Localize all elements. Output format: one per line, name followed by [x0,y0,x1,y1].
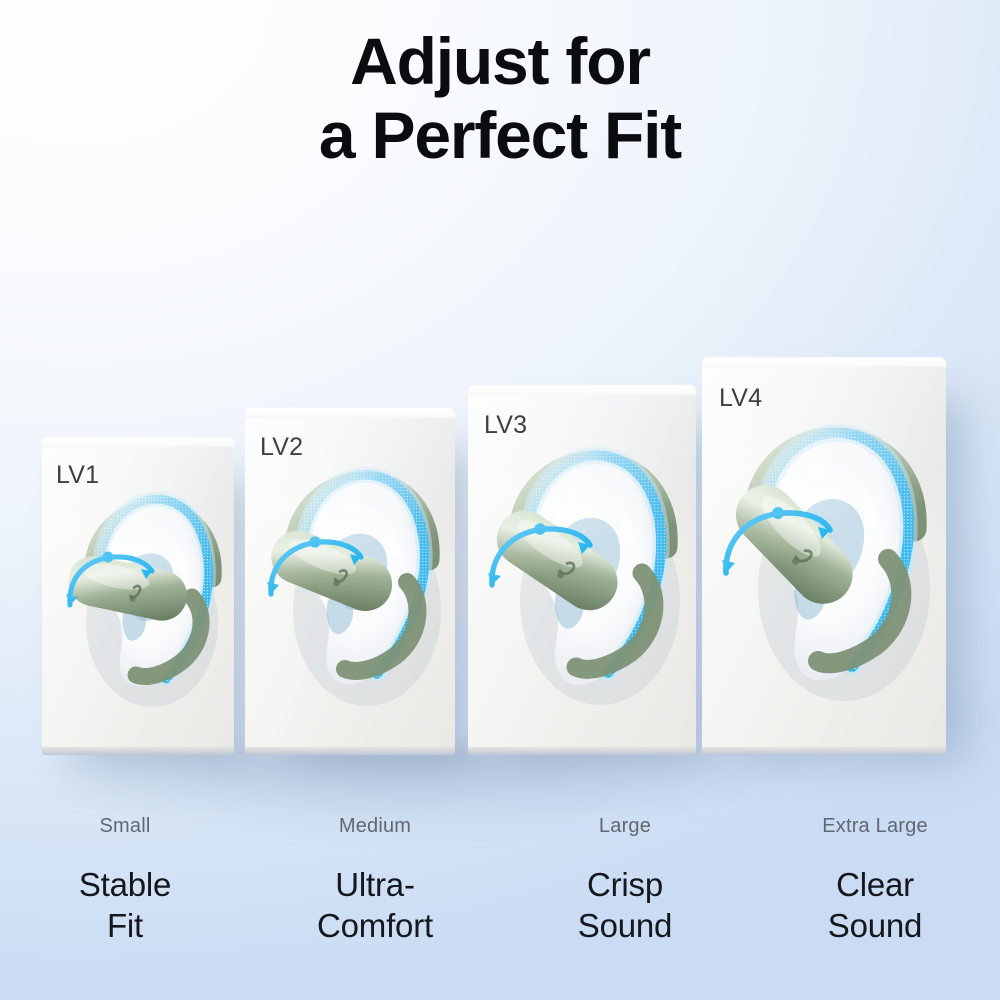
panel-face [468,395,696,748]
panel-base-edge [245,747,455,755]
panel-face [702,367,946,748]
size-label-large: Large [500,815,750,838]
ear-illustration-lv1 [42,447,234,748]
benefit-label-small: Stable Fit [0,864,250,946]
size-label-extra-large: Extra Large [750,815,1000,838]
benefit-label-extra-large: Clear Sound [750,864,1000,946]
panel-label-lv1: LV1 [56,461,99,490]
size-label-small: Small [0,815,250,838]
caption-extra-large: Extra Large Clear Sound [750,815,1000,946]
ear-illustration-lv3 [468,395,696,748]
panel-label-lv2: LV2 [260,433,303,462]
panel-lv1: LV1 [42,447,234,748]
caption-medium: Medium Ultra- Comfort [250,815,500,946]
ear-illustration-lv4 [702,367,946,748]
panel-lv4: LV4 [702,367,946,748]
panel-lv3: LV3 [468,395,696,748]
panel-label-lv4: LV4 [719,384,762,413]
panel-label-lv3: LV3 [484,411,527,440]
caption-small: Small Stable Fit [0,815,250,946]
benefit-label-large: Crisp Sound [500,864,750,946]
caption-large: Large Crisp Sound [500,815,750,946]
benefit-label-medium: Ultra- Comfort [250,864,500,946]
product-feature-image: Adjust for a Perfect Fit [0,0,1000,1000]
size-label-medium: Medium [250,815,500,838]
panel-face [42,447,234,748]
panel-lv2: LV2 [245,418,455,748]
panel-base-edge [42,747,234,755]
caption-row: Small Stable Fit Medium Ultra- Comfort L… [0,815,1000,946]
panel-base-edge [702,747,946,755]
panel-face [245,418,455,748]
panel-base-edge [468,747,696,755]
ear-illustration-lv2 [245,418,455,748]
